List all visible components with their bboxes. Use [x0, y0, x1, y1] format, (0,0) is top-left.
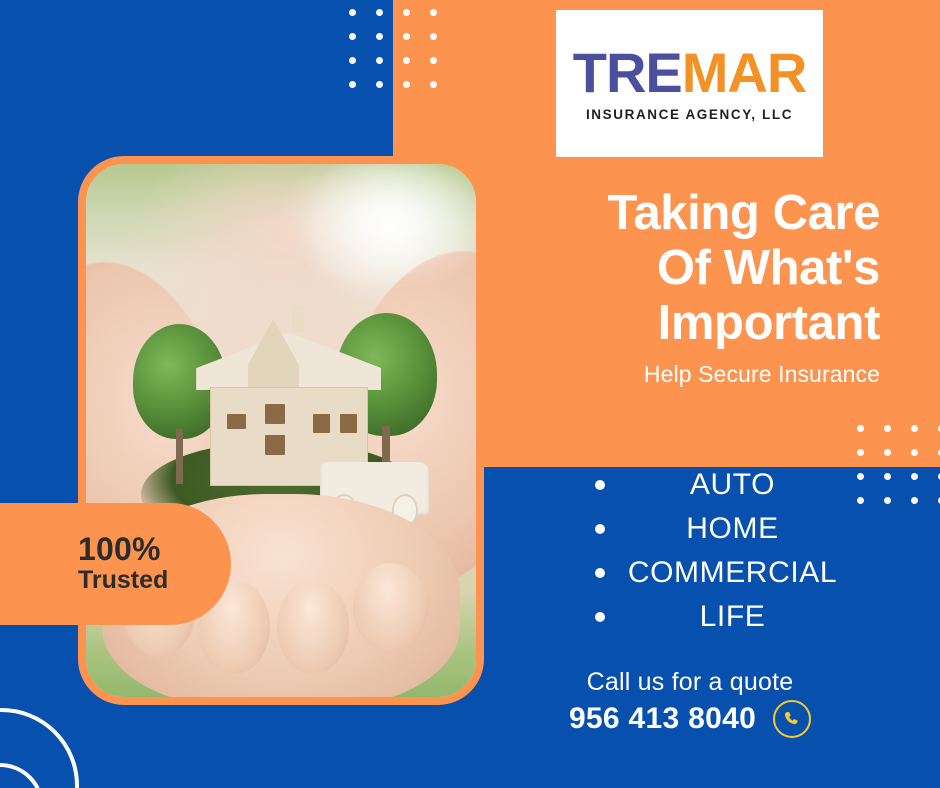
list-item: AUTO [560, 463, 905, 507]
bullet-icon [595, 612, 605, 622]
service-label: LIFE [700, 600, 766, 634]
service-label: COMMERCIAL [628, 556, 837, 590]
brand-logo: TREMAR INSURANCE AGENCY, LLC [556, 10, 823, 157]
bullet-icon [595, 480, 605, 490]
headline-subtitle: Help Secure Insurance [460, 361, 880, 388]
service-label: AUTO [690, 468, 775, 502]
brand-logo-mar: MAR [682, 41, 807, 104]
list-item: HOME [560, 507, 905, 551]
bullet-icon [595, 524, 605, 534]
brand-logo-wordmark: TREMAR [573, 45, 807, 101]
brand-logo-tre: TRE [573, 41, 682, 104]
service-label: HOME [686, 512, 778, 546]
call-to-action-label: Call us for a quote [470, 668, 910, 697]
trusted-badge-label: Trusted [78, 567, 231, 595]
list-item: COMMERCIAL [560, 551, 905, 595]
trusted-badge: 100% Trusted [0, 503, 231, 625]
bullet-icon [595, 568, 605, 578]
phone-row: 956 413 8040 [470, 700, 910, 738]
blue-background-panel [0, 0, 393, 157]
brand-logo-subtitle: INSURANCE AGENCY, LLC [586, 107, 793, 122]
headline-line-1: Taking Care [460, 186, 880, 241]
services-list: AUTO HOME COMMERCIAL LIFE [560, 463, 905, 639]
trusted-badge-percent: 100% [78, 533, 231, 567]
contact-block: Call us for a quote 956 413 8040 [470, 668, 910, 738]
insurance-poster: 100% Trusted TREMAR INSURANCE AGENCY, LL… [0, 0, 940, 788]
phone-number[interactable]: 956 413 8040 [569, 702, 756, 736]
page-title: Taking Care Of What's Important [460, 186, 880, 351]
dot-grid-top-icon [349, 9, 437, 88]
phone-handset-icon[interactable] [773, 700, 811, 738]
headline-line-3: Important [460, 296, 880, 351]
headline-line-2: Of What's [460, 241, 880, 296]
list-item: LIFE [560, 595, 905, 639]
